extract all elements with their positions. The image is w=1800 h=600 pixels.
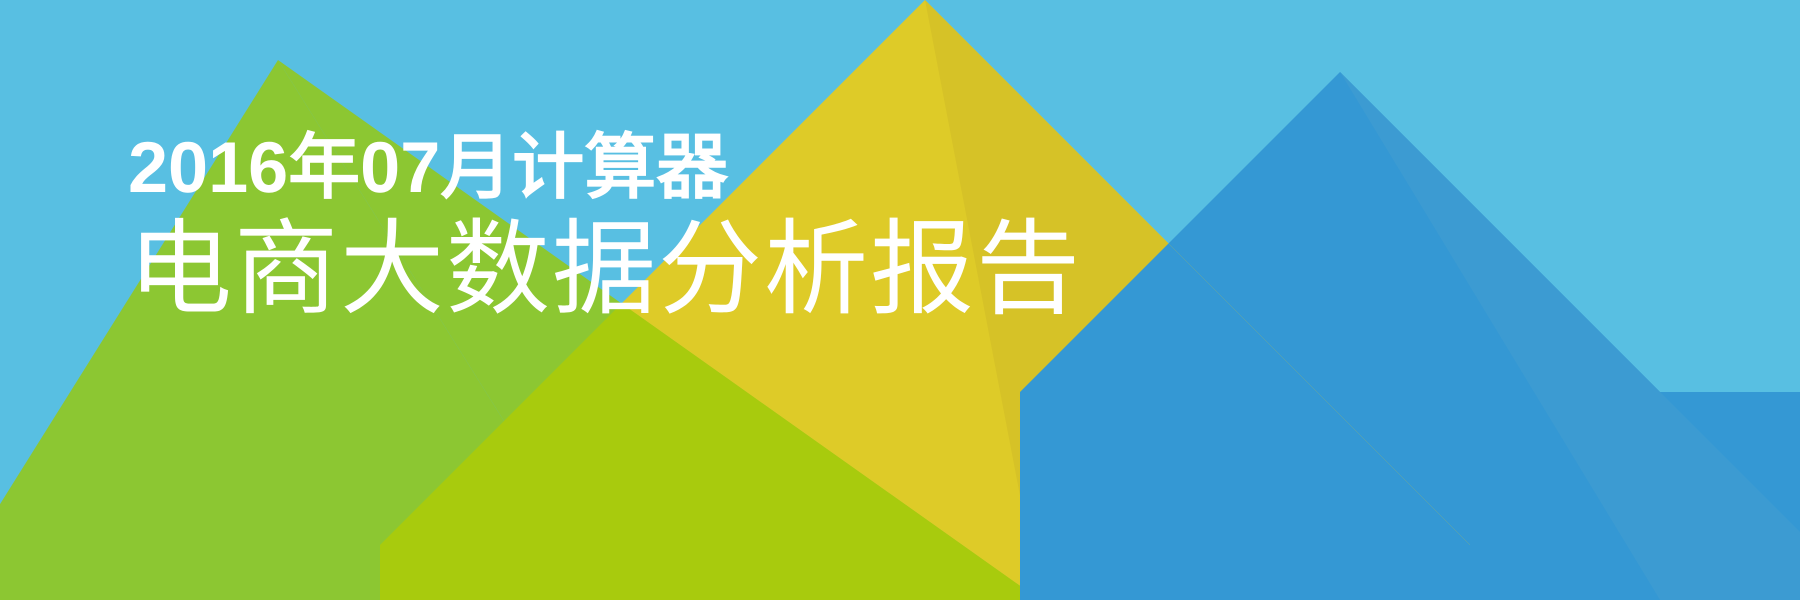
report-cover-banner: 2016年07月计算器 电商大数据分析报告 [0, 0, 1800, 600]
title-line-primary: 2016年07月计算器 [128, 132, 1082, 204]
title-block: 2016年07月计算器 电商大数据分析报告 [128, 132, 1082, 322]
title-line-secondary: 电商大数据分析报告 [128, 218, 1082, 322]
